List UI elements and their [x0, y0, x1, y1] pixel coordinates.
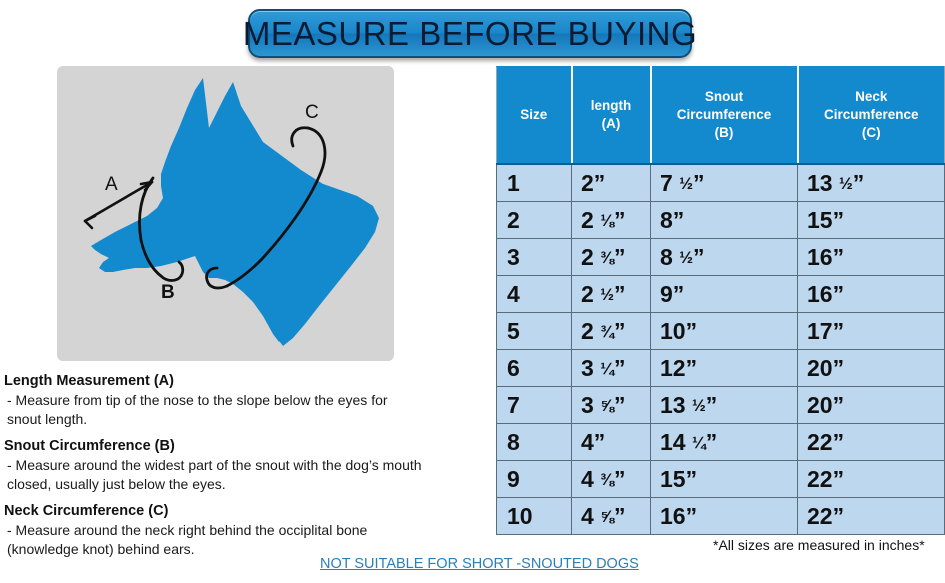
table-row: 12”7 ½”13 ½” [497, 164, 945, 202]
table-cell-length: 4” [572, 424, 651, 461]
instruction-heading: Length Measurement (A) [4, 372, 494, 390]
table-cell-snout: 8” [651, 202, 798, 239]
table-cell-size: 8 [497, 424, 572, 461]
table-cell-length: 4 ⅜” [572, 461, 651, 498]
label-b: B [161, 282, 175, 303]
table-cell-snout: 14 ¼” [651, 424, 798, 461]
table-cell-size: 2 [497, 202, 572, 239]
instruction-heading: Snout Circumference (B) [4, 437, 494, 455]
instruction-body: - Measure around the neck right behind t… [4, 521, 494, 558]
instruction-block-snout: Snout Circumference (B) - Measure around… [4, 437, 494, 493]
table-row: 32 ⅜”8 ½”16” [497, 239, 945, 276]
table-cell-neck: 22” [798, 461, 945, 498]
dog-measurement-illustration: A B C [57, 66, 394, 361]
page-title-banner: MEASURE BEFORE BUYING [248, 9, 692, 58]
table-header-row: Size length (A) Snout Circumference (B) … [497, 67, 945, 165]
table-row: 94 ⅜”15”22” [497, 461, 945, 498]
dog-head-silhouette [91, 78, 379, 346]
table-cell-length: 2 ⅜” [572, 239, 651, 276]
table-cell-size: 1 [497, 164, 572, 202]
table-row: 42 ½”9”16” [497, 276, 945, 313]
table-row: 73 ⅝”13 ½”20” [497, 387, 945, 424]
column-header-snout: Snout Circumference (B) [651, 67, 798, 165]
measurement-instructions: Length Measurement (A) - Measure from ti… [4, 372, 494, 567]
table-cell-snout: 7 ½” [651, 164, 798, 202]
table-cell-size: 6 [497, 350, 572, 387]
table-cell-length: 2 ½” [572, 276, 651, 313]
table-cell-size: 10 [497, 498, 572, 535]
instruction-block-neck: Neck Circumference (C) - Measure around … [4, 502, 494, 558]
table-row: 52 ¾”10”17” [497, 313, 945, 350]
table-cell-length: 2 ¾” [572, 313, 651, 350]
table-cell-length: 4 ⅝” [572, 498, 651, 535]
instruction-body: - Measure from tip of the nose to the sl… [4, 391, 494, 428]
table-cell-length: 3 ¼” [572, 350, 651, 387]
table-cell-size: 9 [497, 461, 572, 498]
table-cell-length: 3 ⅝” [572, 387, 651, 424]
table-cell-neck: 13 ½” [798, 164, 945, 202]
table-cell-neck: 17” [798, 313, 945, 350]
table-cell-neck: 16” [798, 276, 945, 313]
label-a: A [105, 174, 118, 195]
instruction-heading: Neck Circumference (C) [4, 502, 494, 520]
column-header-length: length (A) [572, 67, 651, 165]
table-cell-neck: 22” [798, 498, 945, 535]
table-cell-neck: 22” [798, 424, 945, 461]
table-cell-snout: 9” [651, 276, 798, 313]
units-note: *All sizes are measured in inches* [713, 537, 925, 553]
table-row: 63 ¼”12”20” [497, 350, 945, 387]
table-cell-neck: 20” [798, 387, 945, 424]
label-c: C [305, 102, 319, 123]
table-cell-neck: 15” [798, 202, 945, 239]
table-cell-neck: 16” [798, 239, 945, 276]
table-cell-size: 7 [497, 387, 572, 424]
column-header-size: Size [497, 67, 572, 165]
table-cell-snout: 10” [651, 313, 798, 350]
table-cell-snout: 8 ½” [651, 239, 798, 276]
table-cell-snout: 16” [651, 498, 798, 535]
table-cell-size: 5 [497, 313, 572, 350]
table-cell-snout: 15” [651, 461, 798, 498]
column-header-neck: Neck Circumference (C) [798, 67, 945, 165]
table-cell-size: 4 [497, 276, 572, 313]
table-row: 84”14 ¼”22” [497, 424, 945, 461]
not-suitable-warning: NOT SUITABLE FOR SHORT -SNOUTED DOGS [320, 556, 639, 572]
table-cell-length: 2 ⅛” [572, 202, 651, 239]
table-row: 22 ⅛”8”15” [497, 202, 945, 239]
instruction-block-length: Length Measurement (A) - Measure from ti… [4, 372, 494, 428]
table-row: 104 ⅝”16”22” [497, 498, 945, 535]
instruction-body: - Measure around the widest part of the … [4, 456, 494, 493]
page-title: MEASURE BEFORE BUYING [243, 15, 697, 53]
table-cell-snout: 13 ½” [651, 387, 798, 424]
table-cell-size: 3 [497, 239, 572, 276]
table-cell-neck: 20” [798, 350, 945, 387]
size-chart-table: Size length (A) Snout Circumference (B) … [496, 66, 945, 535]
table-cell-snout: 12” [651, 350, 798, 387]
table-cell-length: 2” [572, 164, 651, 202]
